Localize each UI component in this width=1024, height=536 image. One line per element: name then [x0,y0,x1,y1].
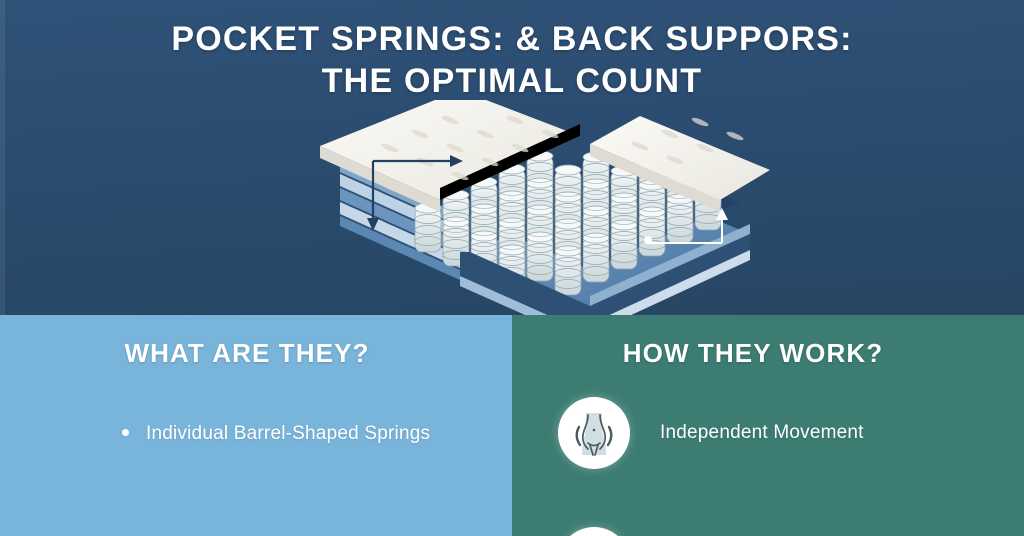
feature-label-independent-movement: Independent Movement [660,422,864,444]
bullet-dot-icon [122,429,129,436]
feature-second-partial [558,527,660,536]
hero-section: POCKET SPRINGS: & BACK SUPPORS: THE OPTI… [0,0,1024,315]
list-item: Individual Barrel-Shaped Springs [122,419,452,449]
panel-how-they-work: HOW THEY WORK? [512,315,1024,536]
panel-what-are-they: WHAT ARE THEY? Individual Barrel-Shaped … [0,315,512,536]
panel-title-what-are-they: WHAT ARE THEY? [0,338,512,369]
back-support-torso-icon [558,397,630,469]
panels-container: WHAT ARE THEY? Individual Barrel-Shaped … [0,315,1024,536]
what-are-they-bullet-list: Individual Barrel-Shaped Springs [122,419,452,449]
spring-unit [583,233,609,282]
spring-unit [611,220,637,269]
page-title: POCKET SPRINGS: & BACK SUPPORS: THE OPTI… [0,18,1024,102]
spring-callout-anchor-dot [644,236,652,244]
mattress-cutaway-diagram [300,100,770,315]
spring-unit [527,232,553,281]
bullet-label: Individual Barrel-Shaped Springs [146,419,430,449]
page-title-line-1: POCKET SPRINGS: & BACK SUPPORS: [171,20,852,58]
circle-icon-partial [558,527,630,536]
feature-independent-movement: Independent Movement [558,397,864,469]
page-title-line-2: THE OPTIMAL COUNT [0,60,1024,102]
infographic-page: POCKET SPRINGS: & BACK SUPPORS: THE OPTI… [0,0,1024,536]
spring-unit [555,246,581,295]
spring-unit [667,194,693,243]
panel-title-how-they-work: HOW THEY WORK? [512,338,1024,369]
spring-unit [639,207,665,256]
